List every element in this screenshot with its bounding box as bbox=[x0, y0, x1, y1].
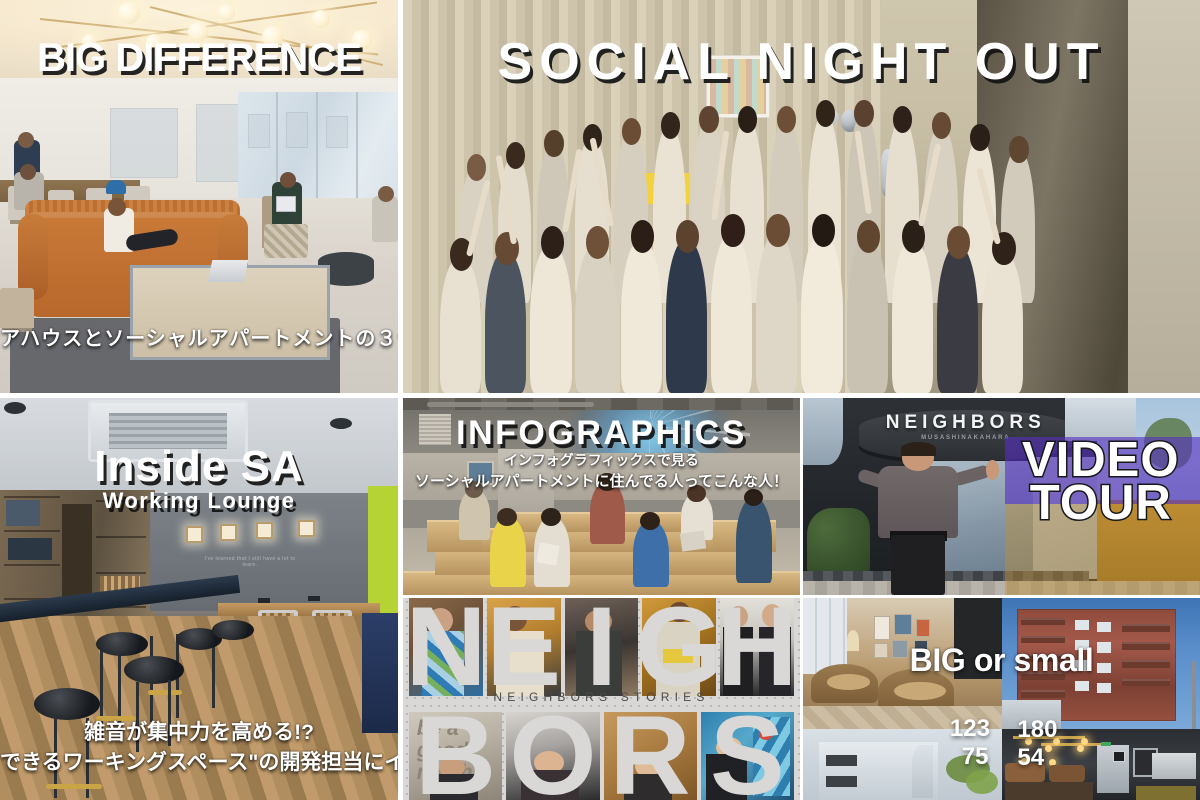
gallery-tile-infographics[interactable]: INFOGRAPHICS インフォグラフィックスで見る ソーシャルアパートメント… bbox=[403, 398, 800, 595]
monitor bbox=[8, 538, 52, 560]
framed-art bbox=[1113, 751, 1125, 762]
ceiling-spotlight bbox=[4, 402, 26, 414]
tile-caption-big-difference: アハウスとソーシャルアパートメントの３つの bbox=[0, 322, 398, 351]
person-seated bbox=[490, 516, 526, 587]
letter-tile: R bbox=[604, 712, 697, 800]
tile-headline-big-or-small: BIG or small bbox=[803, 642, 1200, 679]
tile-subhead-working-lounge: Working Lounge bbox=[0, 488, 398, 514]
letter-tile: H bbox=[720, 598, 794, 696]
letter-row-top: N E I bbox=[403, 598, 800, 696]
tile-subtitle-line1: インフォグラフィックスで見る bbox=[403, 450, 800, 470]
tile-caption-line1: 雑音が集中力を高める!? bbox=[0, 716, 398, 746]
person-head bbox=[20, 164, 36, 180]
tile-headline-infographics: INFOGRAPHICS bbox=[403, 414, 800, 453]
table bbox=[1005, 782, 1092, 800]
letter-tile: S bbox=[701, 712, 794, 800]
letter-tile: N bbox=[409, 598, 483, 696]
patterned-skirt bbox=[264, 224, 308, 258]
bar-stool bbox=[212, 620, 254, 640]
letter-row-bottom: be a good neighb B O R bbox=[403, 712, 800, 800]
tile-caption-line2: できるワーキングスペース"の開発担当にイン bbox=[0, 746, 398, 776]
light-bulb bbox=[312, 10, 330, 28]
neighbors-stories-label: NEIGHBORS STORIES bbox=[403, 690, 800, 704]
wall-outlet bbox=[258, 598, 270, 603]
person-head bbox=[18, 132, 34, 148]
person-head bbox=[280, 172, 296, 188]
number-54: 54 bbox=[1017, 744, 1044, 772]
counter bbox=[1152, 753, 1196, 778]
number-180: 180 bbox=[1017, 716, 1057, 744]
wall-outlet bbox=[308, 596, 320, 601]
bar-stool bbox=[124, 656, 184, 684]
gallery-tile-big-or-small[interactable]: BIG or small 123 180 75 54 bbox=[803, 598, 1200, 800]
letter-tile: be a good neighb B bbox=[409, 712, 502, 800]
letter-r: R bbox=[604, 712, 697, 800]
media-gallery-grid: BIG DIFFERENCE アハウスとソーシャルアパートメントの３つの bbox=[0, 0, 1200, 800]
bar-stool bbox=[96, 632, 148, 656]
host-person bbox=[878, 445, 957, 595]
tile-headline-big-difference: BIG DIFFERENCE bbox=[0, 36, 398, 81]
laptop bbox=[208, 260, 249, 282]
letter-tile: E bbox=[487, 598, 561, 696]
step-tier bbox=[435, 548, 768, 576]
number-75: 75 bbox=[962, 743, 989, 771]
building-sign-main: NEIGHBORS bbox=[867, 412, 1066, 434]
overlay-text-tour: TOUR bbox=[1002, 482, 1200, 525]
letter-s: S bbox=[701, 712, 794, 800]
letter-h: H bbox=[720, 598, 794, 696]
hedge bbox=[807, 508, 871, 575]
letter-n: N bbox=[409, 598, 483, 696]
booth-seating bbox=[362, 613, 398, 733]
person-head bbox=[541, 508, 561, 526]
light-bulb bbox=[118, 2, 140, 24]
person-seated bbox=[633, 520, 669, 587]
wall-desk bbox=[218, 603, 380, 617]
person-right-edge bbox=[372, 196, 398, 242]
person-head bbox=[378, 186, 394, 202]
number-123: 123 bbox=[950, 715, 990, 743]
video-tour-overlay-text: VIDEO TOUR bbox=[1002, 439, 1200, 525]
tile-headline-inside-sa: Inside SA bbox=[0, 442, 398, 492]
tree-foliage bbox=[966, 770, 998, 794]
letter-e: E bbox=[487, 598, 561, 696]
person-seated bbox=[736, 497, 772, 584]
letter-i: I bbox=[565, 598, 639, 696]
person-head bbox=[108, 198, 126, 216]
lounge-sofa bbox=[1049, 765, 1085, 782]
gallery-tile-big-difference[interactable]: BIG DIFFERENCE アハウスとソーシャルアパートメントの３つの bbox=[0, 0, 398, 393]
white-facade bbox=[819, 742, 938, 800]
gallery-tile-social-night-out[interactable]: SOCIAL NIGHT OUT bbox=[403, 0, 1200, 393]
gallery-tile-video-tour[interactable]: NEIGHBORS MUSASHINAKAHARA VIDEO TOUR bbox=[803, 398, 1200, 595]
exit-sign bbox=[1101, 742, 1111, 746]
letter-tile: I bbox=[565, 598, 639, 696]
tablet-device bbox=[276, 196, 296, 212]
gallery-tile-neighbors-stories[interactable]: N E I bbox=[403, 598, 800, 800]
curved-wall bbox=[803, 398, 843, 465]
glass-partition bbox=[110, 108, 178, 178]
light-bulb bbox=[218, 4, 235, 21]
tile-subtitle-line2: ソーシャルアパートメントに住んでる人ってこんな人！ bbox=[403, 470, 800, 491]
tile-headline-social-night-out: SOCIAL NIGHT OUT bbox=[403, 32, 1200, 92]
letter-tile: G bbox=[642, 598, 716, 696]
cushion bbox=[536, 542, 559, 565]
crowd-of-people bbox=[427, 94, 1073, 393]
letter-o: O bbox=[506, 712, 599, 800]
beanie-hat bbox=[106, 180, 126, 194]
ceiling-pipe bbox=[427, 402, 594, 407]
letter-b: B bbox=[409, 712, 502, 800]
gallery-tile-inside-sa[interactable]: I've learned that I still have a lot to … bbox=[0, 398, 398, 800]
olive-sofa bbox=[1136, 786, 1196, 800]
cushion bbox=[680, 530, 706, 551]
ceiling-spotlight bbox=[330, 418, 352, 429]
letter-g: G bbox=[642, 598, 716, 696]
letter-tile: O bbox=[506, 712, 599, 800]
wall-quote-text: I've learned that I still have a lot to … bbox=[200, 556, 300, 568]
